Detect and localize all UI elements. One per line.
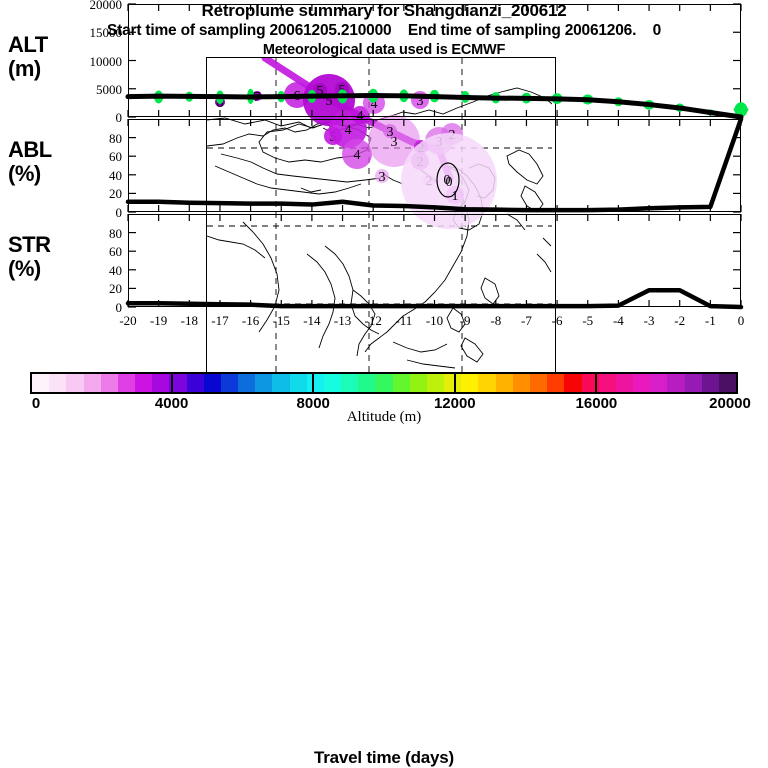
colorbar-swatch [547, 374, 564, 392]
colorbar-separator [595, 372, 597, 394]
xtick: 0 [721, 314, 761, 327]
colorbar-swatch [255, 374, 272, 392]
ytick-alt: 0 [50, 111, 122, 124]
ytick-alt: 20000 [50, 0, 122, 11]
colorbar-swatch [49, 374, 66, 392]
ytick-str: 20 [50, 282, 122, 295]
panel-frame-alt [128, 4, 741, 117]
colorbar-swatch [187, 374, 204, 392]
panel-frame-str [128, 214, 741, 307]
colorbar-swatch [238, 374, 255, 392]
ytick-str: 0 [50, 301, 122, 314]
colorbar-swatch [66, 374, 83, 392]
colorbar-swatch [152, 374, 169, 392]
colorbar-swatch [478, 374, 495, 392]
row-label-line: (m) [8, 57, 68, 81]
ytick-abl: 0 [50, 206, 122, 219]
colorbar-swatch [118, 374, 135, 392]
colorbar-swatch [135, 374, 152, 392]
colorbar-swatch [341, 374, 358, 392]
colorbar-swatch [204, 374, 221, 392]
colorbar-swatch [650, 374, 667, 392]
colorbar-swatch [221, 374, 238, 392]
altitude-colorbar [30, 372, 738, 394]
colorbar-swatch [513, 374, 530, 392]
row-label-line: ALT [8, 33, 68, 57]
colorbar-swatch [702, 374, 719, 392]
colorbar-swatch [685, 374, 702, 392]
colorbar-swatch [272, 374, 289, 392]
colorbar-swatch [84, 374, 101, 392]
colorbar-swatch [410, 374, 427, 392]
row-label-alt: ALT(m) [8, 33, 68, 81]
colorbar-swatch [461, 374, 478, 392]
xaxis-title: Travel time (days) [0, 748, 768, 768]
colorbar-axis-label: Altitude (m) [0, 409, 768, 426]
colorbar-swatch [496, 374, 513, 392]
colorbar-swatch [393, 374, 410, 392]
colorbar-swatch [358, 374, 375, 392]
row-label-abl: ABL(%) [8, 138, 68, 186]
colorbar-swatch [375, 374, 392, 392]
colorbar-swatch [633, 374, 650, 392]
colorbar-swatch [290, 374, 307, 392]
colorbar-swatch [616, 374, 633, 392]
colorbar-swatch [719, 374, 736, 392]
colorbar-separator [171, 372, 173, 394]
ytick-alt: 5000 [50, 83, 122, 96]
colorbar-swatch [530, 374, 547, 392]
colorbar-swatch [667, 374, 684, 392]
colorbar-separator [454, 372, 456, 394]
row-label-line: ABL [8, 138, 68, 162]
colorbar-swatch [564, 374, 581, 392]
row-label-line: STR [8, 233, 68, 257]
colorbar-swatch [427, 374, 444, 392]
colorbar-swatch [444, 374, 461, 392]
colorbar-swatch [599, 374, 616, 392]
panel-frame-abl [128, 119, 741, 212]
row-label-str: STR(%) [8, 233, 68, 281]
colorbar-swatch [307, 374, 324, 392]
row-label-line: (%) [8, 257, 68, 281]
ytick-abl: 20 [50, 187, 122, 200]
colorbar-swatch [101, 374, 118, 392]
colorbar-separator [312, 372, 314, 394]
colorbar-swatch [324, 374, 341, 392]
colorbar-swatch [32, 374, 49, 392]
row-label-line: (%) [8, 162, 68, 186]
